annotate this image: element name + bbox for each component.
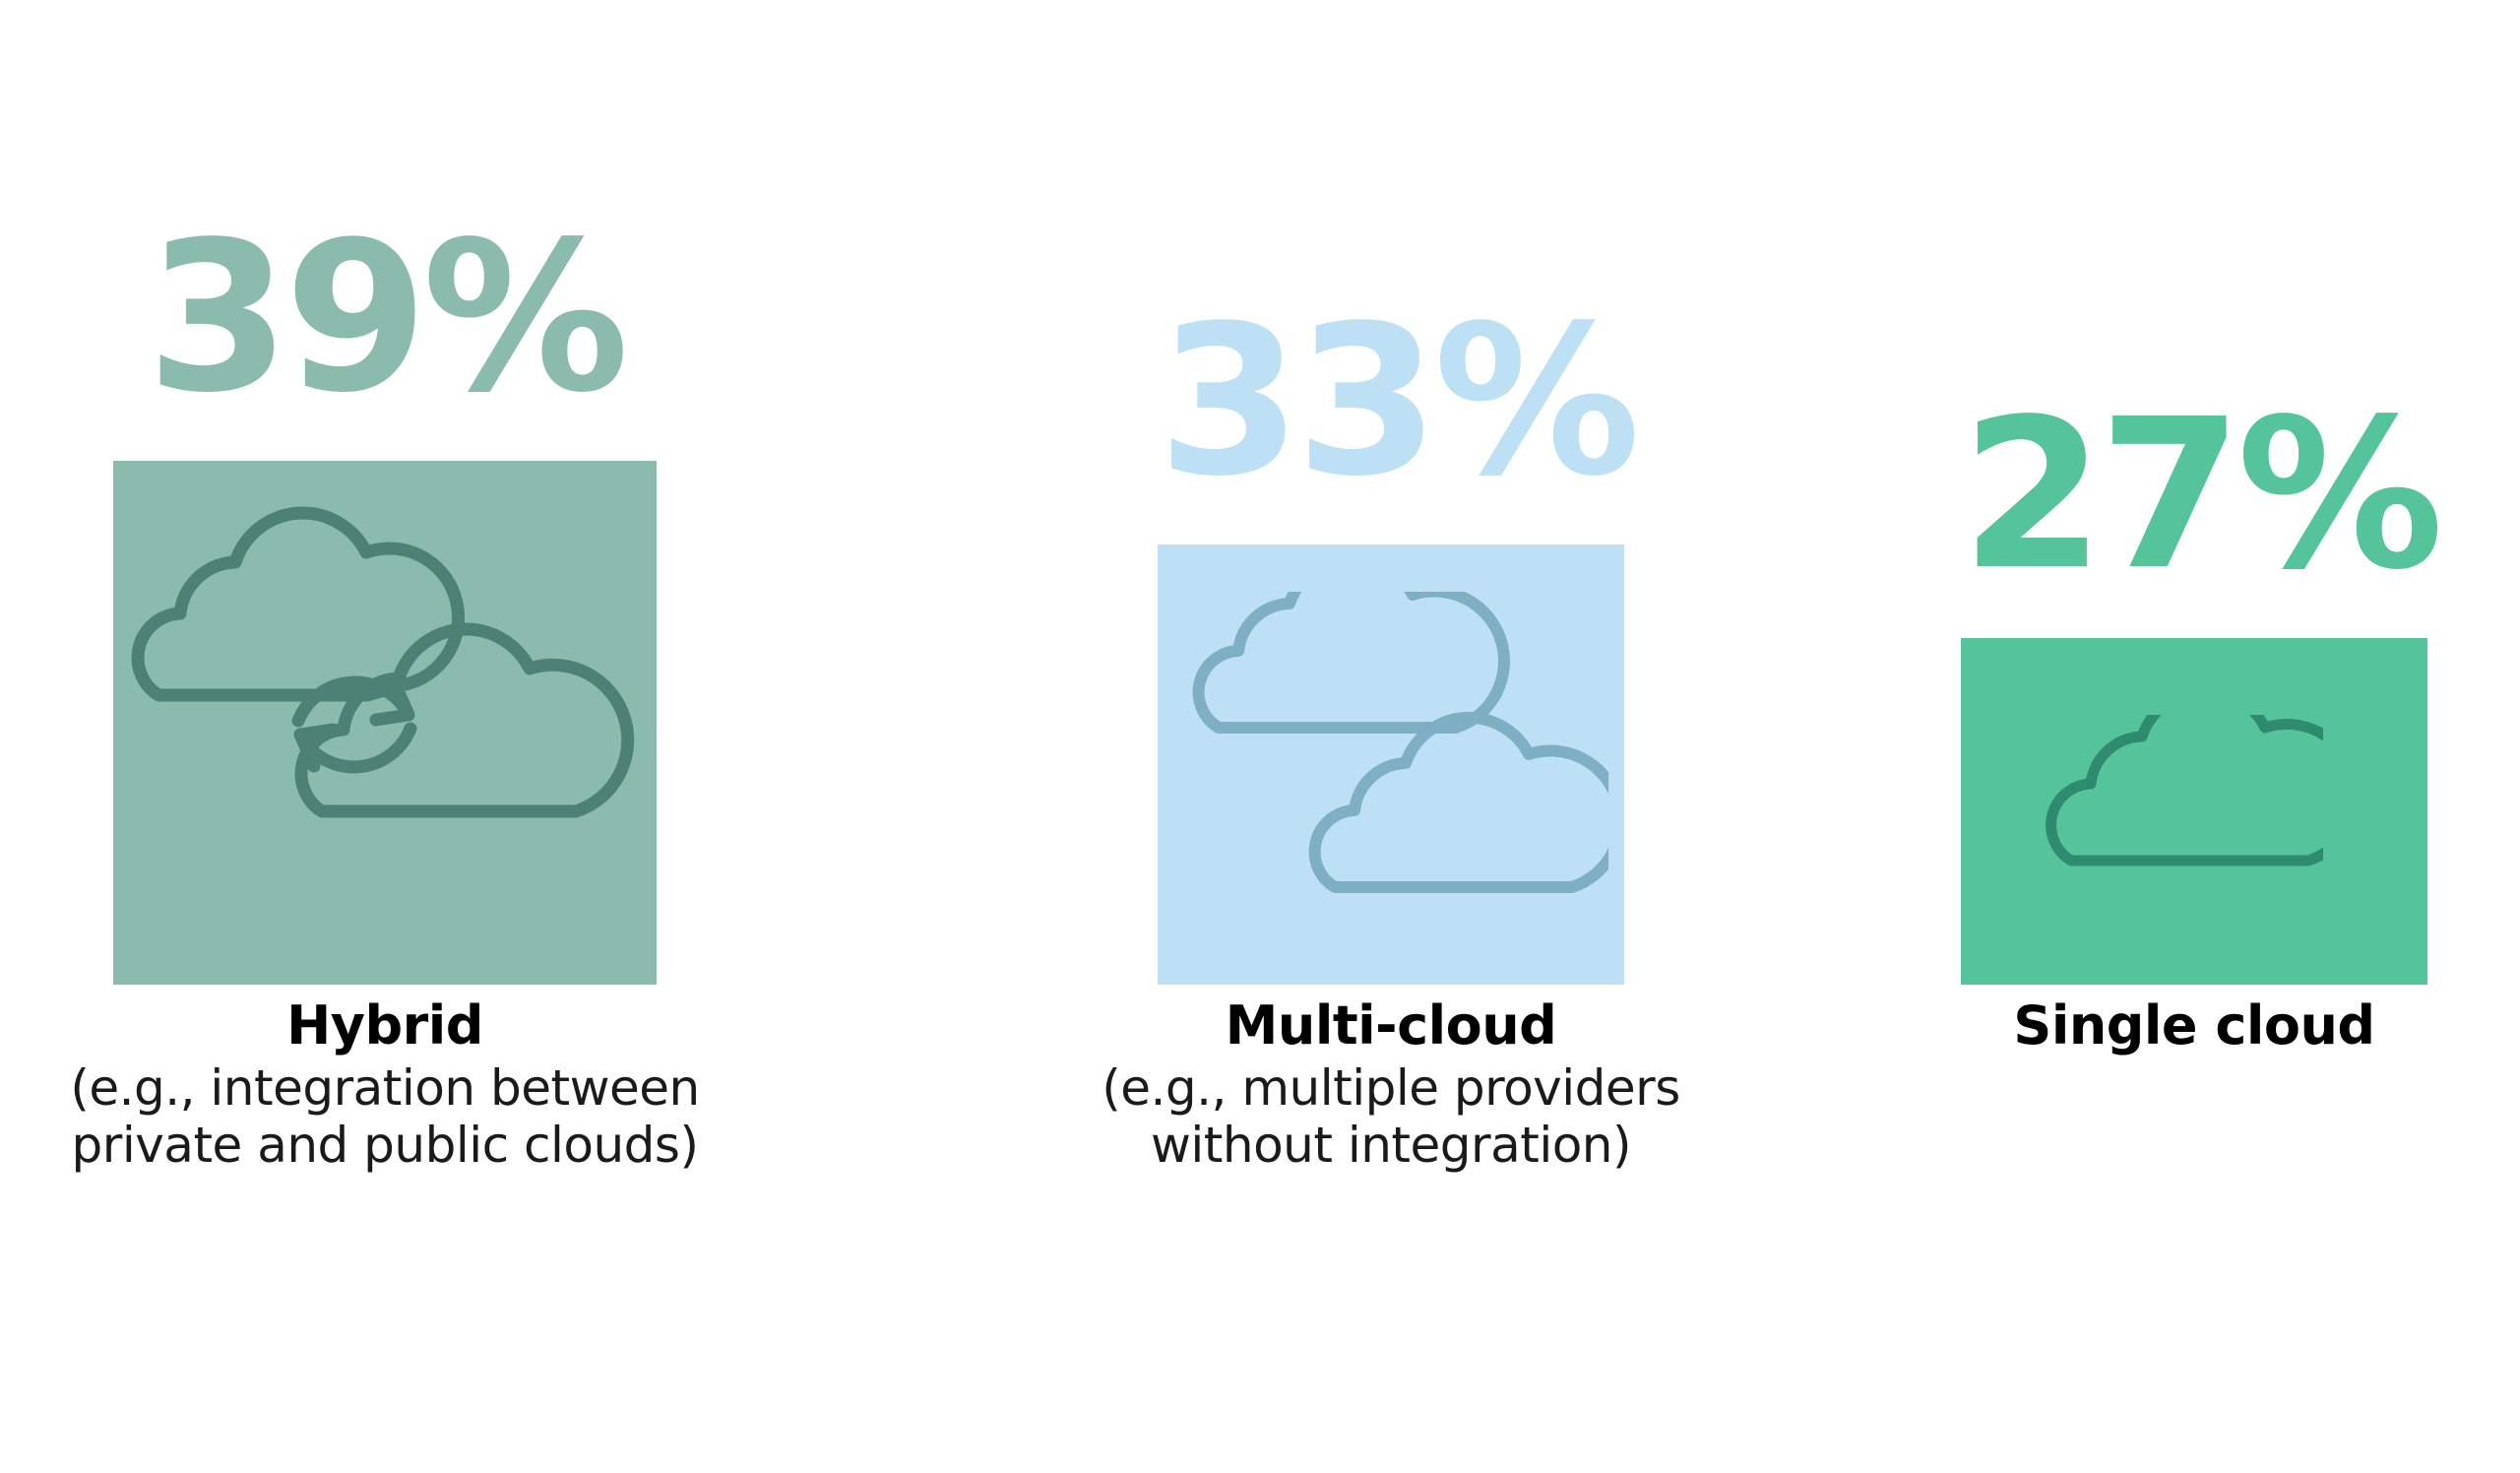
percent-value-single-cloud: 27% <box>1961 392 2427 599</box>
percent-value-hybrid: 39% <box>113 215 657 421</box>
category-subtitle-multi-cloud: (e.g., multiple providers without integr… <box>1069 1059 1713 1174</box>
label-group-hybrid: Hybrid (e.g., integration between privat… <box>25 996 745 1174</box>
category-title-single-cloud: Single cloud <box>1872 996 2516 1056</box>
bar-multi-cloud <box>1158 544 1624 985</box>
subtitle-line-2: private and public clouds) <box>25 1117 745 1174</box>
cloud-strategy-infographic: 39% Hybrid (e.g., integration between pr… <box>0 0 2520 1473</box>
chart-column-hybrid: 39% Hybrid (e.g., integration between pr… <box>113 0 657 1473</box>
chart-column-multi-cloud: 33% Multi-cloud (e.g., multiple provider… <box>1158 0 1624 1473</box>
single-cloud-icon <box>2038 715 2323 892</box>
label-group-multi-cloud: Multi-cloud (e.g., multiple providers wi… <box>1069 996 1713 1174</box>
subtitle-line-2: without integration) <box>1069 1117 1713 1174</box>
category-subtitle-hybrid: (e.g., integration between private and p… <box>25 1059 745 1174</box>
bar-single-cloud <box>1961 638 2427 985</box>
hybrid-cloud-sync-icon <box>119 500 651 835</box>
two-clouds-icon <box>1185 592 1608 907</box>
category-title-hybrid: Hybrid <box>25 996 745 1056</box>
subtitle-line-1: (e.g., integration between <box>25 1059 745 1117</box>
subtitle-line-1: (e.g., multiple providers <box>1069 1059 1713 1117</box>
label-group-single-cloud: Single cloud <box>1872 996 2516 1059</box>
category-title-multi-cloud: Multi-cloud <box>1069 996 1713 1056</box>
percent-value-multi-cloud: 33% <box>1158 298 1624 505</box>
bar-hybrid <box>113 461 657 985</box>
chart-column-single-cloud: 27% Single cloud <box>1961 0 2427 1473</box>
